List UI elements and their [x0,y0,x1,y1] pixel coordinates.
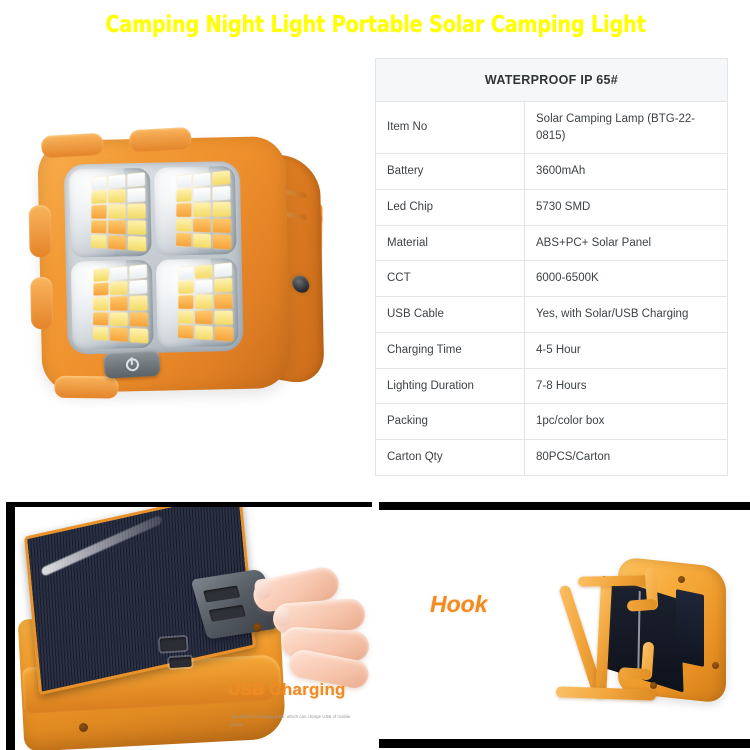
usb-port-icon [169,657,192,669]
usb-port-icon [160,637,187,652]
spec-value: 3600mAh [525,154,728,190]
table-row: Carton Qty 80PCS/Carton [376,439,728,475]
screw-icon [79,723,88,732]
rubber-bumper [29,205,52,257]
stand-bar-bottom [556,686,656,700]
rubber-bumper [54,376,118,399]
page-title: Camping Night Light Portable Solar Campi… [105,12,645,38]
stand-bar-diagonal [595,582,612,698]
led-quadrant [156,258,239,348]
led-chip-array [178,263,233,342]
hook-product-illustration [554,558,734,718]
spec-key: Carton Qty [376,439,525,475]
power-button[interactable] [103,350,160,379]
spec-key: Charging Time [376,332,525,368]
spec-key: Material [376,225,525,261]
led-quadrant [71,260,154,350]
spec-value: 6000-6500K [525,261,728,297]
usb-charging-subtext: Two kinds of charging ports, which can c… [231,713,353,728]
spec-value: Solar Camping Lamp (BTG-22-0815) [525,102,728,154]
table-row: Led Chip 5730 SMD [376,190,728,226]
page-title-bar: Camping Night Light Portable Solar Campi… [0,0,750,50]
spec-value: 4-5 Hour [525,332,728,368]
led-quadrant [154,166,237,256]
hero-product-image [6,50,370,496]
spec-value: ABS+PC+ Solar Panel [525,225,728,261]
spec-key: Led Chip [376,190,525,226]
product-listing-page: Camping Night Light Portable Solar Campi… [0,0,750,750]
fingernail [274,607,290,627]
table-row: Lighting Duration 7-8 Hours [376,368,728,404]
spec-key: CCT [376,261,525,297]
table-row: Battery 3600mAh [376,154,728,190]
table-row: CCT 6000-6500K [376,261,728,297]
spec-key: Item No [376,102,525,154]
led-chip-array [91,172,146,251]
table-row: Material ABS+PC+ Solar Panel [376,225,728,261]
rubber-bumper [30,277,53,329]
spec-value: 1pc/color box [525,404,728,440]
usb-charging-heading: USB Charging [228,680,388,700]
stand-bar-top [578,575,654,586]
table-header-cell: WATERPROOF IP 65# [376,59,728,102]
spec-value: 5730 SMD [525,190,728,226]
led-chip-array [176,171,231,250]
table-row: Charging Time 4-5 Hour [376,332,728,368]
solar-panel-rear-side [676,589,704,667]
spec-key: Battery [376,154,525,190]
table-row: USB Cable Yes, with Solar/USB Charging [376,297,728,333]
lamp-body [37,136,290,393]
screw-icon [678,576,685,583]
spec-value: Yes, with Solar/USB Charging [525,297,728,333]
led-panel-bezel [64,161,244,355]
panel-glare [40,515,162,577]
spec-value: 7-8 Hours [525,368,728,404]
spec-key: Packing [376,404,525,440]
rubber-bumper [129,127,192,152]
solar-panel-closeup [21,509,291,741]
usb-port-group [160,635,211,676]
table-row: Packing 1pc/color box [376,404,728,440]
screw-icon [712,662,719,669]
led-chip-array [93,264,148,343]
rubber-bumper [41,133,104,158]
lamp-illustration [37,135,342,406]
table-header-row: WATERPROOF IP 65# [376,59,728,102]
spec-key: Lighting Duration [376,368,525,404]
led-quadrant [69,168,152,258]
hook-panel [379,502,750,748]
screw-icon [650,682,657,689]
spec-value: 80PCS/Carton [525,439,728,475]
specification-table: WATERPROOF IP 65# Item No Solar Camping … [375,58,728,476]
spec-key: USB Cable [376,297,525,333]
power-icon [125,357,139,371]
table-row: Item No Solar Camping Lamp (BTG-22-0815) [376,102,728,154]
hook-heading: Hook [430,591,488,618]
